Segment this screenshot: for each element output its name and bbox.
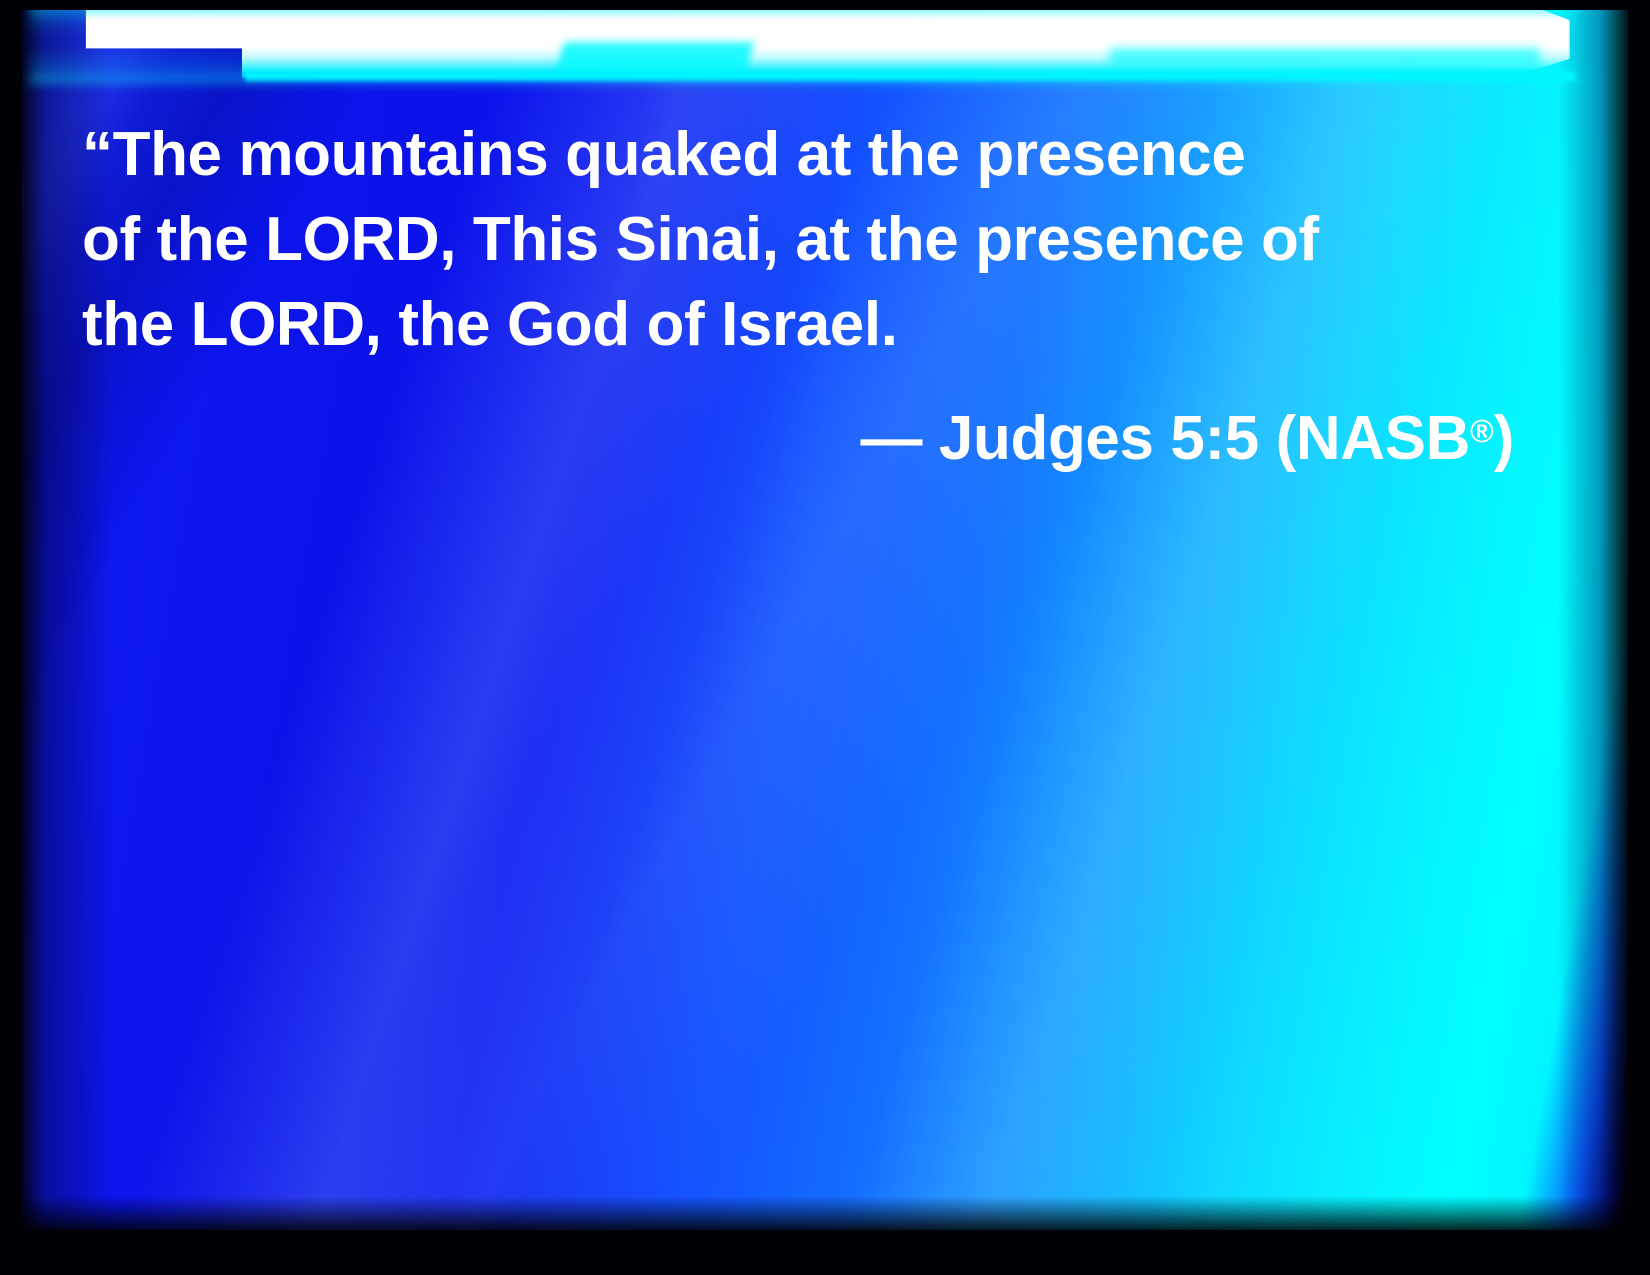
verse-line-3: the LORD, the God of Israel.	[82, 282, 1522, 367]
background-right-edge-shade	[1558, 8, 1628, 1230]
verse-attribution: — Judges 5:5 (NASB®)	[82, 389, 1522, 481]
verse-line-1: “The mountains quaked at the presence	[82, 112, 1522, 197]
verse-line-2: of the LORD, This Sinai, at the presence…	[82, 197, 1522, 282]
top-frame-edge	[0, 0, 1650, 10]
background-bottom-edge-shade	[22, 1196, 1628, 1230]
attribution-closing-paren: )	[1494, 404, 1514, 473]
scripture-slide: “The mountains quaked at the presence of…	[0, 0, 1650, 1275]
verse-text-block: “The mountains quaked at the presence of…	[82, 112, 1522, 481]
registered-trademark-icon: ®	[1470, 413, 1494, 449]
attribution-reference-text: — Judges 5:5 (NASB	[861, 404, 1470, 473]
